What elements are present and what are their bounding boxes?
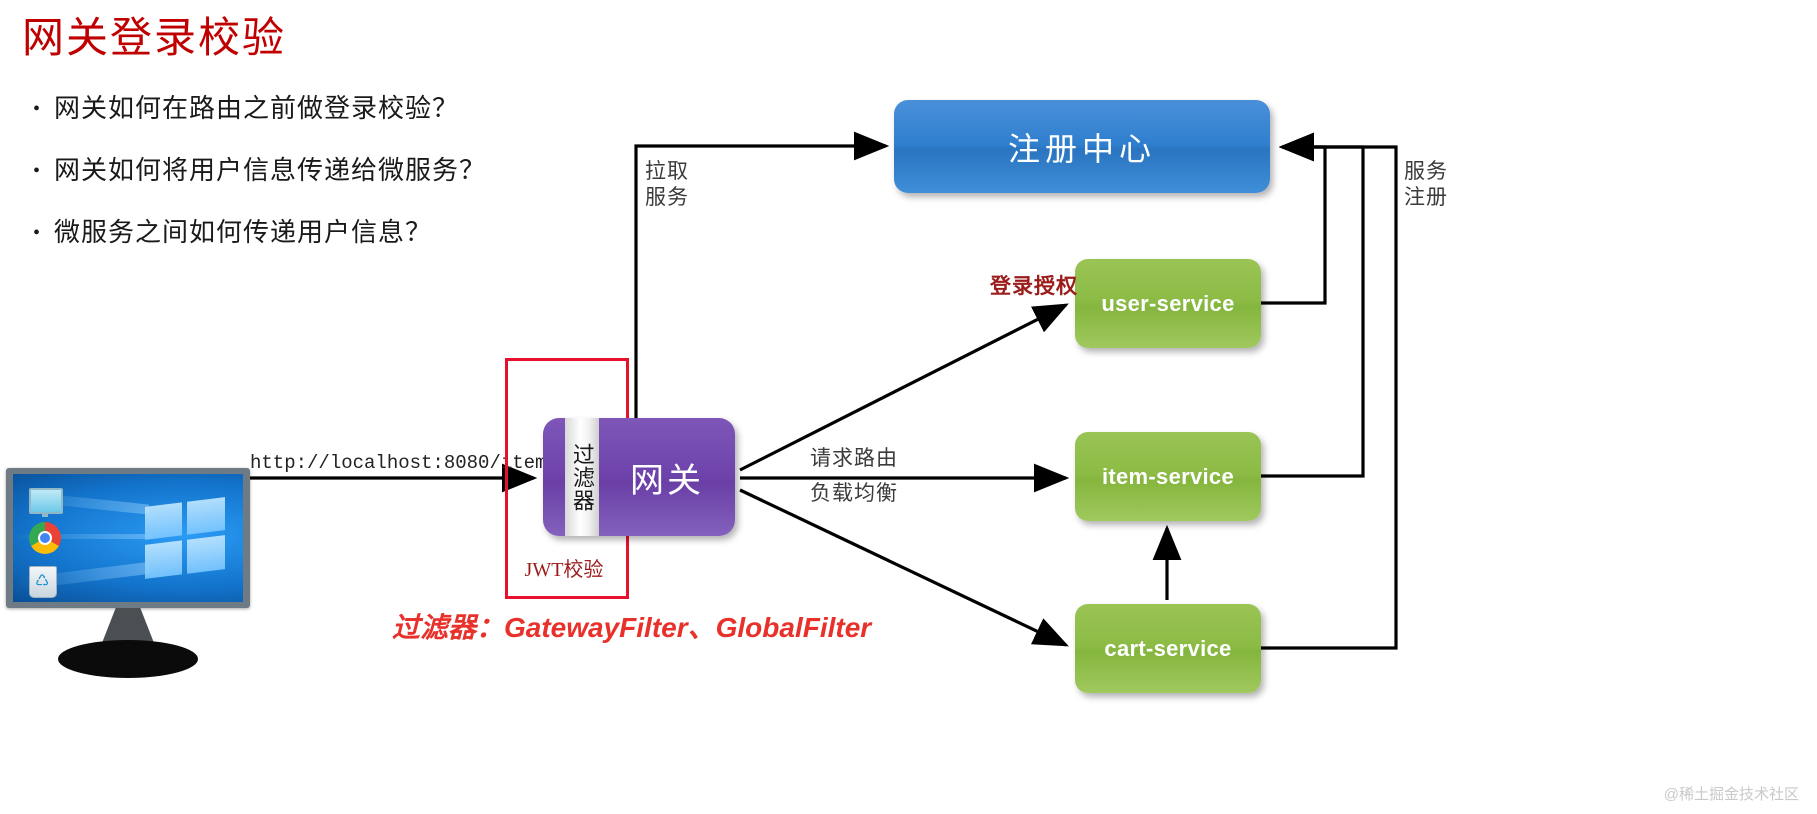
bullet-text: 微服务之间如何传递用户信息？ [54,216,432,250]
service-label: cart-service [1104,636,1231,662]
windows-logo-icon [145,497,225,579]
monitor-frame [6,468,250,608]
service-node-item: item-service [1075,432,1261,521]
bullet-marker-icon: • [20,216,54,250]
watermark: @稀土掘金技术社区 [1664,783,1799,804]
filter-note-text: 过滤器：GatewayFilter、GlobalFilter [392,606,871,646]
gateway-filter-strip: 过滤器 [565,418,599,536]
service-label: item-service [1102,464,1234,490]
registry-node: 注册中心 [894,100,1270,193]
service-node-cart: cart-service [1075,604,1261,693]
list-item: • 微服务之间如何传递用户信息？ [20,216,540,250]
gateway-node: 过滤器 网关 [543,418,735,536]
monitor-base [58,640,198,678]
gateway-label: 网关 [599,418,735,536]
edge-label-login-auth: 登录授权 [990,270,1078,300]
edge-label-load-balance: 负载均衡 [810,480,898,506]
list-item: • 网关如何将用户信息传递给微服务？ [20,154,540,188]
chrome-icon [29,522,61,554]
page-title: 网关登录校验 [22,4,286,65]
bullet-marker-icon: • [20,154,54,188]
slide-canvas: 网关登录校验 • 网关如何在路由之前做登录校验？ • 网关如何将用户信息传递给微… [0,0,1817,814]
monitor-screen [13,474,243,602]
registry-label: 注册中心 [1008,124,1156,170]
bullet-text: 网关如何在路由之前做登录校验？ [54,92,459,126]
client-monitor [6,468,256,678]
service-label: user-service [1101,291,1234,317]
bullet-list: • 网关如何在路由之前做登录校验？ • 网关如何将用户信息传递给微服务？ • 微… [20,92,540,278]
service-node-user: user-service [1075,259,1261,348]
bullet-marker-icon: • [20,92,54,126]
computer-icon [29,488,63,514]
gateway-filter-label: 过滤器 [570,443,594,512]
recycle-bin-icon [29,566,57,598]
edge-label-pull-service: 拉取 服务 [645,158,689,211]
edge-label-request-route: 请求路由 [810,445,898,471]
bullet-text: 网关如何将用户信息传递给微服务？ [54,154,486,188]
jwt-validation-label: JWT校验 [505,553,623,582]
list-item: • 网关如何在路由之前做登录校验？ [20,92,540,126]
edge-label-service-register: 服务 注册 [1404,158,1448,211]
